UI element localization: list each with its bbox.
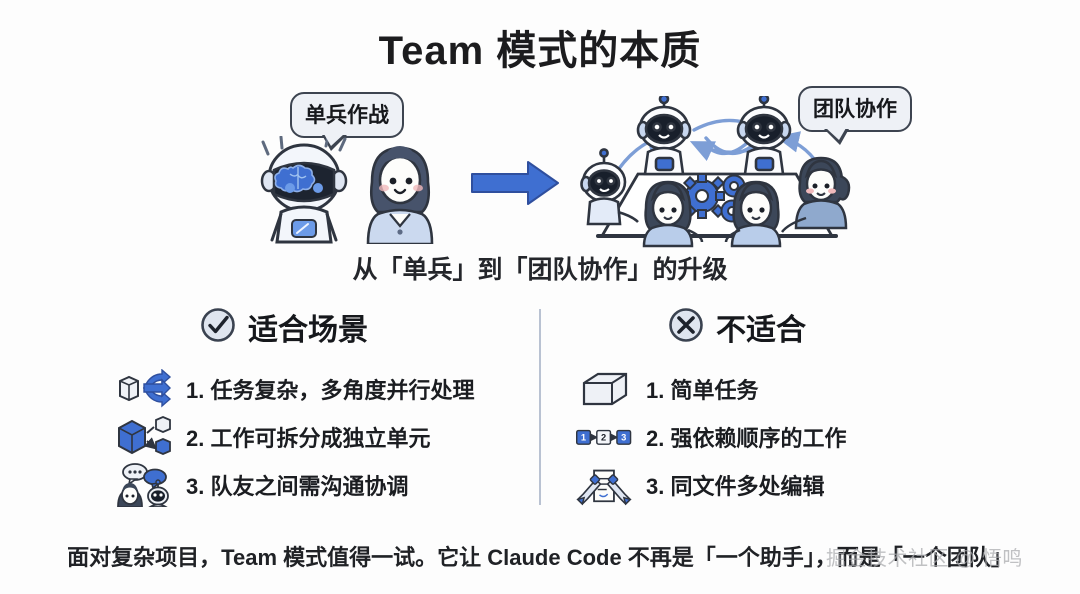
svg-text:2: 2 <box>601 433 606 443</box>
column-suitable-title: 适合场景 <box>248 305 368 349</box>
list-item-text: 3. 同文件多处编辑 <box>646 469 824 501</box>
column-suitable: 适合场景 1. 任务复杂，多角度并行处理 <box>200 305 530 509</box>
illustration-caption: 从「单兵」到「团队协作」的升级 <box>0 250 1080 286</box>
svg-text:1: 1 <box>581 433 586 443</box>
sequence-123-icon: 1 2 3 <box>576 415 632 459</box>
list-item: 1. 任务复杂，多角度并行处理 <box>200 365 530 413</box>
single-box-icon <box>576 367 632 411</box>
page-title: Team 模式的本质 <box>0 18 1080 76</box>
chat-person-robot-icon <box>116 463 172 507</box>
slide-root: Team 模式的本质 单兵作战 团队协作 <box>0 0 1080 594</box>
list-item-text: 3. 队友之间需沟通协调 <box>186 469 408 501</box>
speech-bubble-solo: 单兵作战 <box>290 92 404 138</box>
comparison-columns: 适合场景 1. 任务复杂，多角度并行处理 <box>0 305 1080 525</box>
list-item: 1 2 3 2. 强依赖顺序的工作 <box>668 413 1008 461</box>
list-item: 2. 工作可拆分成独立单元 <box>200 413 530 461</box>
footer-summary: 面对复杂项目，Team 模式值得一试。它让 Claude Code 不再是「一个… <box>0 540 1080 572</box>
column-unsuitable-header: 不适合 <box>668 305 1008 349</box>
solo-robot-and-person-illustration <box>248 136 448 249</box>
list-item-text: 2. 强依赖顺序的工作 <box>646 421 846 453</box>
svg-text:3: 3 <box>621 433 626 443</box>
list-item-text: 1. 简单任务 <box>646 373 758 405</box>
list-item-text: 1. 任务复杂，多角度并行处理 <box>186 373 474 405</box>
list-item: 3. 队友之间需沟通协调 <box>200 461 530 509</box>
cube-decompose-icon <box>116 415 172 459</box>
column-unsuitable-title: 不适合 <box>716 305 806 349</box>
column-divider <box>539 309 541 505</box>
list-item: 3. 同文件多处编辑 <box>668 461 1008 509</box>
list-item: 1. 简单任务 <box>668 365 1008 413</box>
check-circle-icon <box>200 307 236 348</box>
list-item-text: 2. 工作可拆分成独立单元 <box>186 421 430 453</box>
cube-split-arrows-icon <box>116 367 172 411</box>
document-two-pens-icon <box>576 463 632 507</box>
team-robots-and-people-table-illustration <box>568 96 868 256</box>
cross-circle-icon <box>668 307 704 348</box>
right-arrow-icon <box>470 158 560 215</box>
column-unsuitable: 不适合 1. 简单任务 1 <box>668 305 1008 509</box>
illustration-band: 单兵作战 团队协作 <box>0 78 1080 243</box>
column-suitable-header: 适合场景 <box>200 305 530 349</box>
